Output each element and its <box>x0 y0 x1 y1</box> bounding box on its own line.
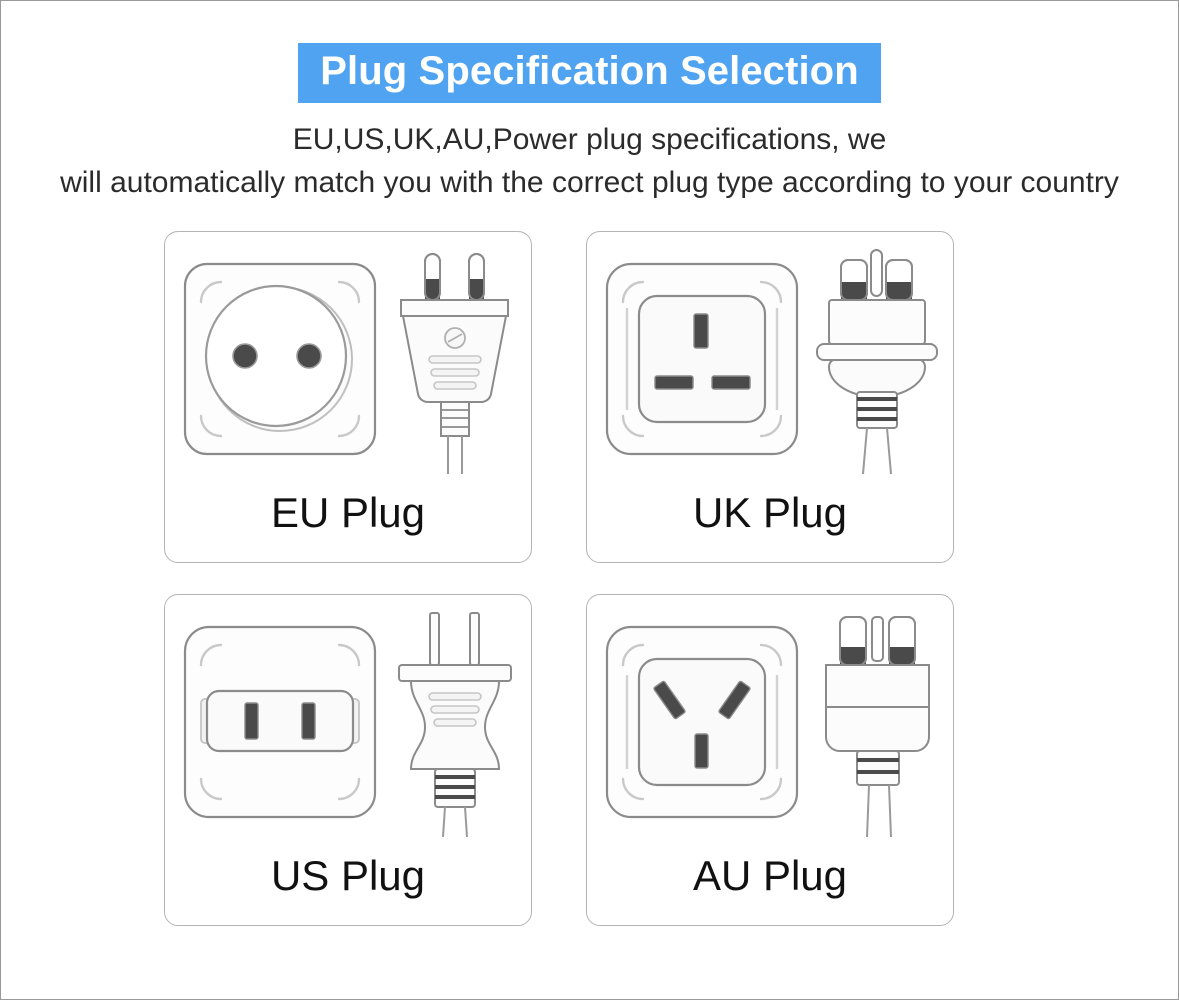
us-socket-icon <box>185 627 375 817</box>
uk-card-art <box>587 246 953 476</box>
au-plug-icon <box>826 617 929 837</box>
au-card-art <box>587 609 953 839</box>
plug-specification-page: Plug Specification Selection EU,US,UK,AU… <box>0 0 1179 1000</box>
subtitle-line-1: EU,US,UK,AU,Power plug specifications, w… <box>1 119 1178 162</box>
plug-card-label-eu: EU Plug <box>165 492 531 534</box>
uk-plug-icon <box>817 250 937 474</box>
plug-card-uk[interactable]: UK Plug <box>586 231 954 563</box>
page-header: Plug Specification Selection EU,US,UK,AU… <box>1 1 1178 205</box>
plug-card-us[interactable]: US Plug <box>164 594 532 926</box>
page-subtitle: EU,US,UK,AU,Power plug specifications, w… <box>1 119 1178 205</box>
plug-card-label-us: US Plug <box>165 855 531 897</box>
uk-socket-icon <box>607 264 797 454</box>
us-plug-icon <box>399 613 511 837</box>
eu-card-art <box>165 246 531 476</box>
subtitle-line-2: will automatically match you with the co… <box>1 162 1178 205</box>
au-socket-icon <box>607 627 797 817</box>
eu-plug-icon <box>401 254 508 474</box>
plug-card-au[interactable]: AU Plug <box>586 594 954 926</box>
us-card-art <box>165 609 531 839</box>
page-title: Plug Specification Selection <box>298 43 880 103</box>
plug-card-label-uk: UK Plug <box>587 492 953 534</box>
plug-card-label-au: AU Plug <box>587 855 953 897</box>
plug-card-eu[interactable]: EU Plug <box>164 231 532 563</box>
eu-socket-icon <box>185 264 375 454</box>
plug-card-grid: EU Plug <box>164 231 954 926</box>
